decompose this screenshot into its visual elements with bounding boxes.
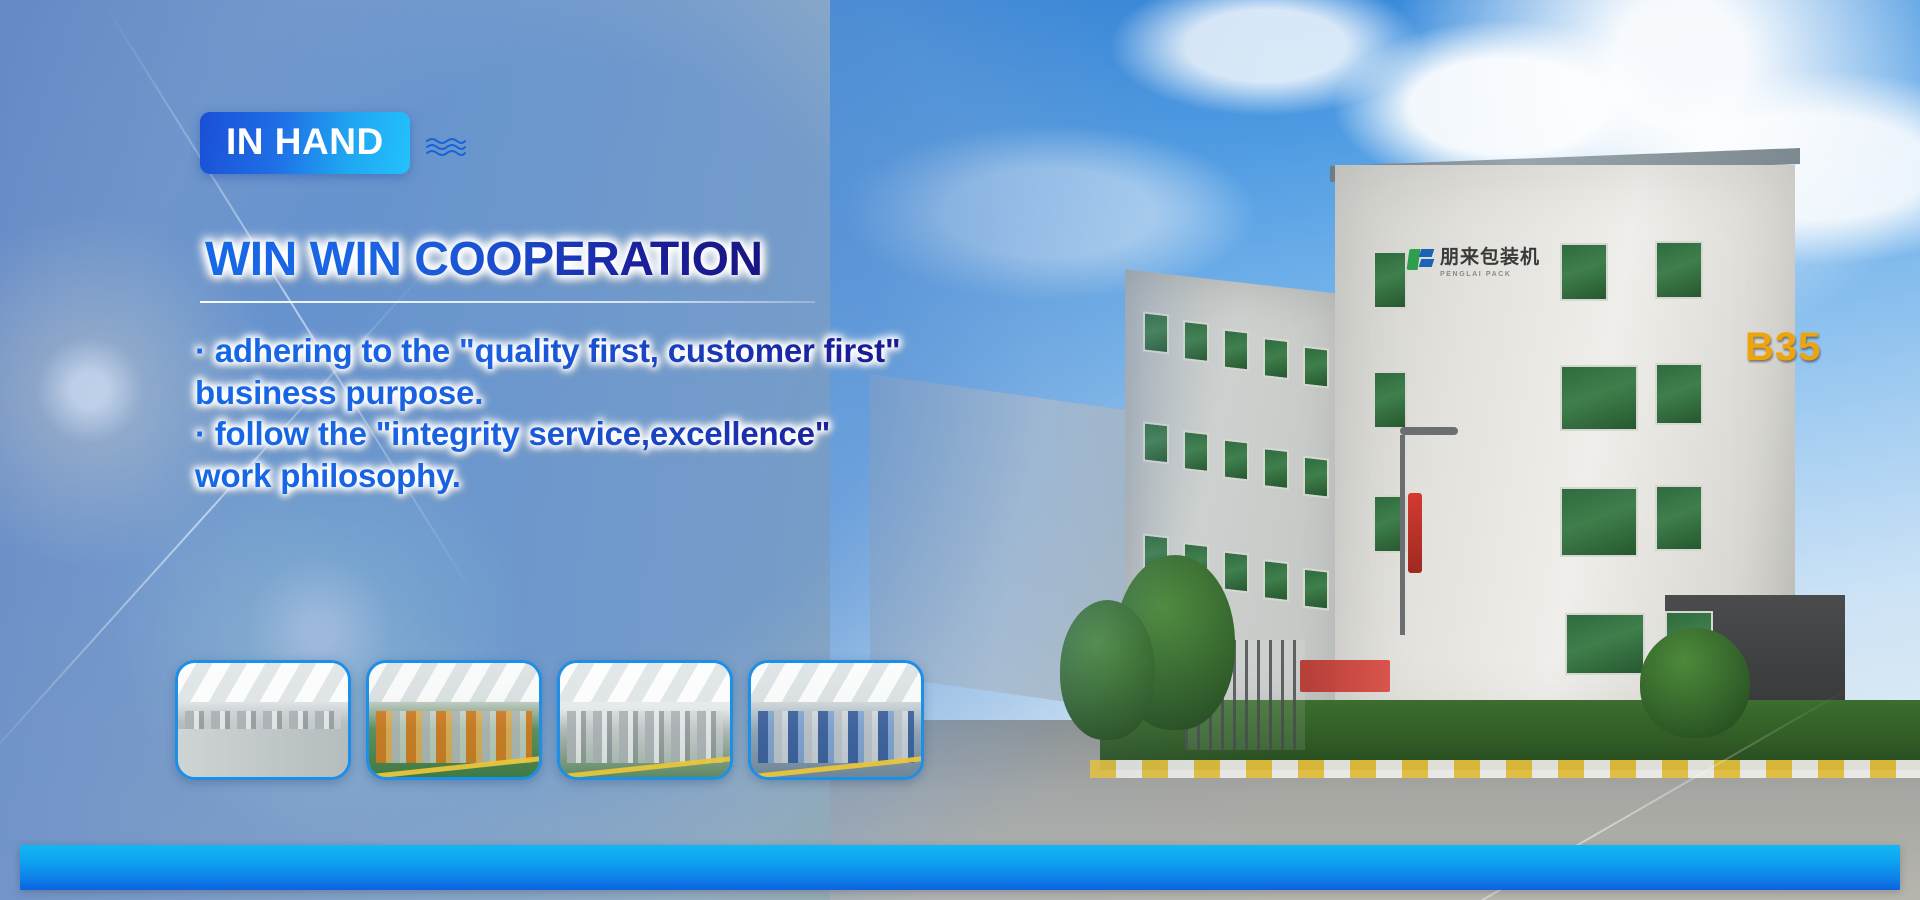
bullet-line: business purpose. (195, 372, 975, 414)
penglai-pack-logo-icon (1408, 247, 1434, 273)
bullet-list: · adhering to the "quality first, custom… (195, 330, 975, 496)
street-lamp (1400, 435, 1405, 635)
bullet-line: work philosophy. (195, 455, 975, 497)
page-title: WIN WIN COOPERATION (205, 232, 763, 287)
wave-icon (425, 136, 467, 160)
promo-banner: 朋来包装机 PENGLAI PACK B35 IN HAND WIN WIN C… (0, 0, 1920, 900)
thumbnail-production-line-green-floor[interactable] (366, 660, 542, 780)
bottom-accent-bar (20, 845, 1900, 890)
logo-chinese-name: 朋来包装机 (1440, 242, 1540, 269)
flag-pole (1408, 493, 1422, 573)
building-number-sign: B35 (1745, 325, 1821, 370)
red-banner-sign (1300, 660, 1390, 692)
divider (200, 301, 815, 303)
in-hand-badge: IN HAND (200, 112, 410, 174)
logo-english-name: PENGLAI PACK (1440, 271, 1540, 278)
banner-content: IN HAND WIN WIN COOPERATION · adhering t… (0, 0, 1000, 900)
thumbnail-factory-hall-machines[interactable] (175, 660, 351, 780)
bullet-line: · adhering to the "quality first, custom… (195, 330, 975, 372)
tree (1640, 628, 1750, 738)
bullet-line: · follow the "integrity service,excellen… (195, 413, 975, 455)
thumbnail-strip (175, 660, 924, 780)
thumbnail-machine-assembly-area[interactable] (748, 660, 924, 780)
thumbnail-packing-machine-workshop[interactable] (557, 660, 733, 780)
building-logo: 朋来包装机 PENGLAI PACK (1408, 242, 1540, 278)
